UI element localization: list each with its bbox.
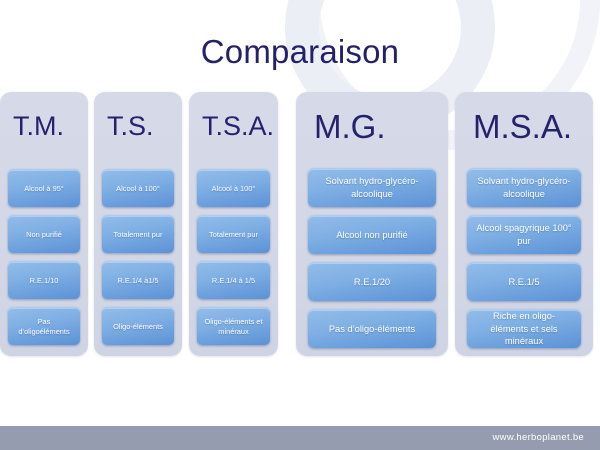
list-item: R.E.1/20	[308, 262, 436, 301]
list-item: Oligo-éléments et minéraux	[197, 307, 270, 345]
list-item: Non purifié	[8, 215, 80, 253]
column-items-mg: Solvant hydro-glycéro-alcoolique Alcool …	[296, 168, 448, 348]
list-item: Solvant hydro-glycéro-alcoolique	[308, 168, 436, 207]
list-item: R.E.1/10	[8, 261, 80, 299]
list-item: Solvant hydro-glycéro-alcoolique	[467, 168, 581, 207]
list-item: R.E.1/4 à1/5	[102, 261, 174, 299]
list-item: R.E.1/5	[467, 262, 581, 301]
list-item: Totalement pur	[102, 215, 174, 253]
list-item: Alcool à 95°	[8, 169, 80, 207]
footer-website-url: www.herboplanet.be	[493, 426, 584, 450]
list-item: Alcool spagyrique 100° pur	[467, 215, 581, 254]
slide-canvas: Comparaison T.M. Alcool à 95° Non purifi…	[0, 0, 600, 450]
column-panel-msa: M.S.A. Solvant hydro-glycéro-alcoolique …	[455, 92, 593, 356]
column-heading-msa: M.S.A.	[455, 92, 593, 143]
column-panel-tsa: T.S.A. Alcool à 100° Totalement pur R.E.…	[189, 92, 278, 356]
column-items-msa: Solvant hydro-glycéro-alcoolique Alcool …	[455, 168, 593, 348]
list-item: Oligo-éléments	[102, 307, 174, 345]
list-item: Pas d’oligoéléments	[8, 307, 80, 345]
list-item: Riche en oligo-éléments et sels minéraux	[467, 309, 581, 348]
column-items-tsa: Alcool à 100° Totalement pur R.E.1/4 à 1…	[189, 169, 278, 345]
comparison-columns: T.M. Alcool à 95° Non purifié R.E.1/10 P…	[0, 92, 600, 358]
column-heading-tsa: T.S.A.	[189, 92, 278, 140]
list-item: Alcool non purifié	[308, 215, 436, 254]
list-item: R.E.1/4 à 1/5	[197, 261, 270, 299]
list-item: Pas d’oligo-éléments	[308, 309, 436, 348]
column-heading-mg: M.G.	[296, 92, 448, 143]
column-panel-mg: M.G. Solvant hydro-glycéro-alcoolique Al…	[296, 92, 448, 356]
list-item: Totalement pur	[197, 215, 270, 253]
column-heading-tm: T.M.	[0, 92, 88, 140]
column-panel-ts: T.S. Alcool à 100° Totalement pur R.E.1/…	[94, 92, 182, 356]
column-heading-ts: T.S.	[94, 92, 182, 140]
list-item: Alcool à 100°	[102, 169, 174, 207]
column-items-tm: Alcool à 95° Non purifié R.E.1/10 Pas d’…	[0, 169, 88, 345]
column-panel-tm: T.M. Alcool à 95° Non purifié R.E.1/10 P…	[0, 92, 88, 356]
page-title: Comparaison	[0, 33, 600, 71]
list-item: Alcool à 100°	[197, 169, 270, 207]
footer-bar: www.herboplanet.be	[0, 426, 600, 450]
column-items-ts: Alcool à 100° Totalement pur R.E.1/4 à1/…	[94, 169, 182, 345]
